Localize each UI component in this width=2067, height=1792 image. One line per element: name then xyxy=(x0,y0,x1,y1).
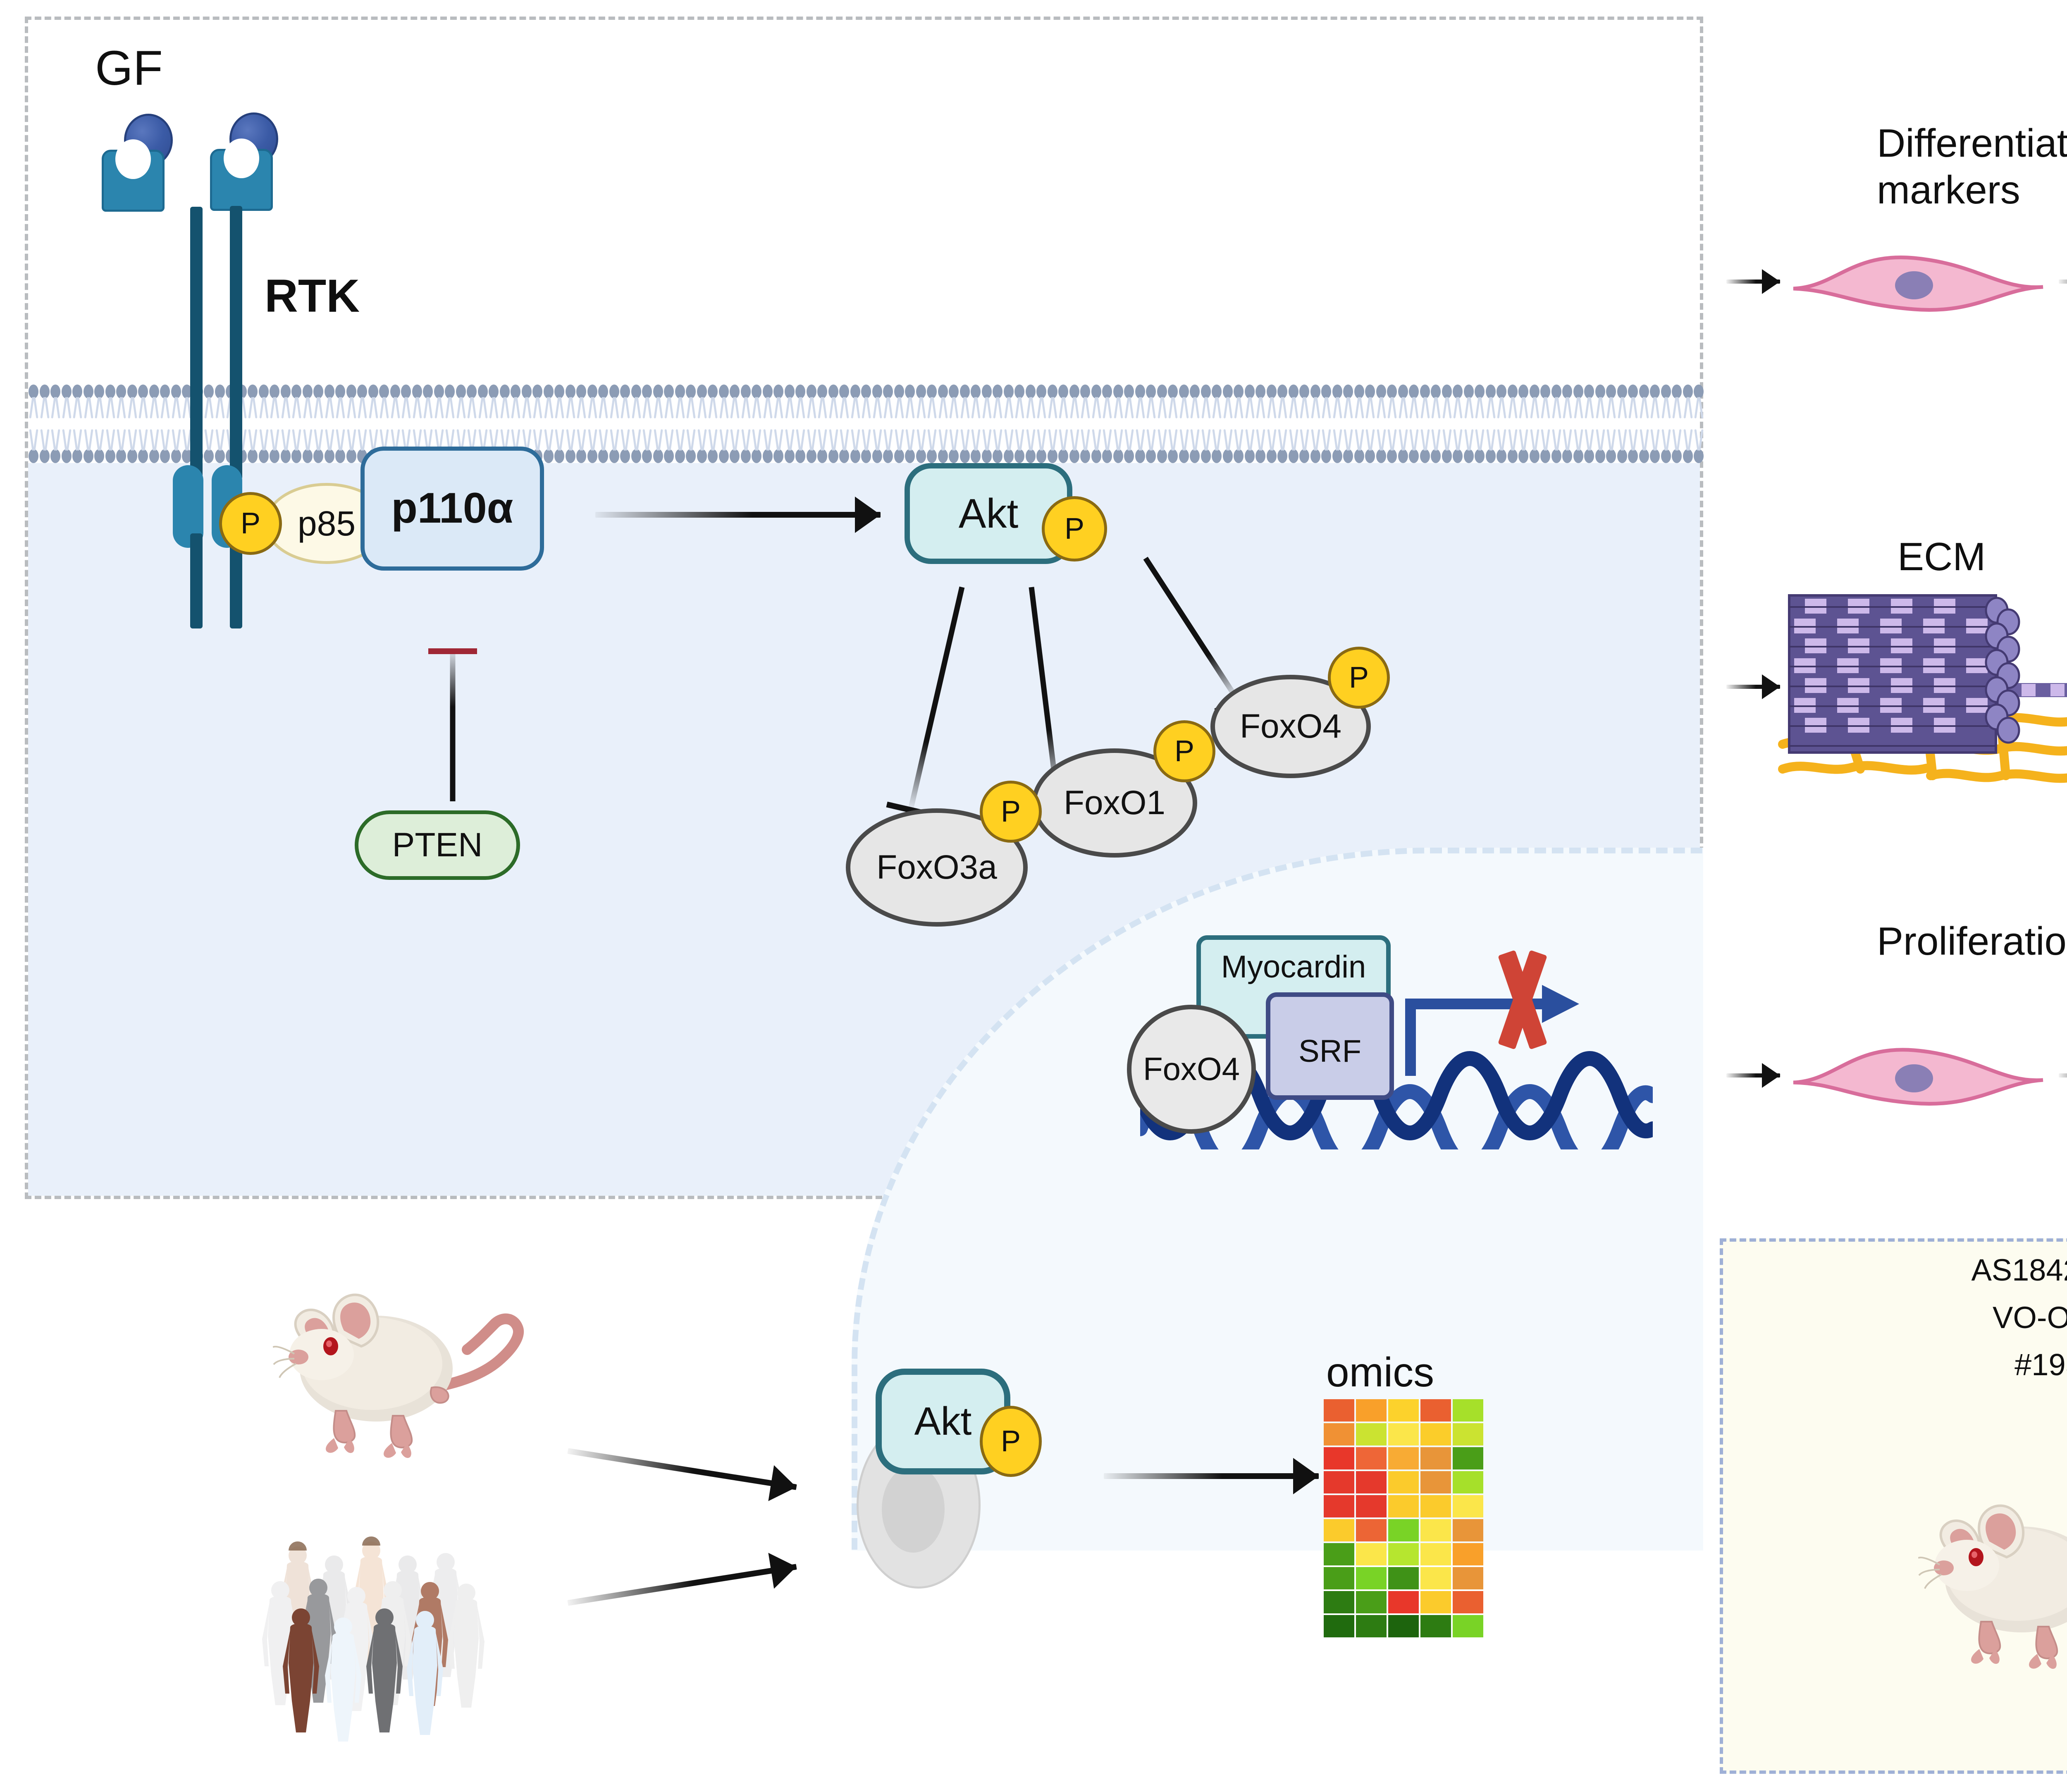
phospholipid-icon xyxy=(762,385,773,408)
phospho-group-icon: P xyxy=(1042,496,1107,561)
phospholipid-icon xyxy=(817,440,828,463)
phospholipid-icon xyxy=(1146,385,1157,408)
phospholipid-icon xyxy=(94,385,105,408)
phospholipid-icon xyxy=(1047,385,1058,408)
phospholipid-icon xyxy=(1069,440,1080,463)
heatmap-cell xyxy=(1420,1423,1451,1446)
phospholipid-icon xyxy=(324,385,335,408)
phospholipid-icon xyxy=(850,385,861,408)
phospholipid-icon xyxy=(1573,385,1584,408)
phospholipid-icon xyxy=(938,385,949,408)
phospholipid-icon xyxy=(412,385,423,408)
phospholipid-icon xyxy=(916,385,927,408)
phospholipid-icon xyxy=(707,440,718,463)
phospholipid-icon xyxy=(1201,385,1212,408)
p110alpha-subunit: p110α xyxy=(360,447,544,571)
phospholipid-icon xyxy=(1036,385,1047,408)
phospholipid-icon xyxy=(697,385,708,408)
phospholipid-icon xyxy=(1562,385,1573,408)
phospholipid-icon xyxy=(138,385,149,408)
phospholipid-icon xyxy=(61,440,72,463)
red-x-icon xyxy=(1483,950,1562,1049)
phospholipid-icon xyxy=(784,440,795,463)
heatmap-cell xyxy=(1356,1495,1387,1517)
heatmap-cell xyxy=(1420,1399,1451,1422)
pten-protein: PTEN xyxy=(355,810,520,880)
phospholipid-icon xyxy=(1310,385,1321,408)
phospholipid-icon xyxy=(1376,385,1387,408)
heatmap-cell xyxy=(1356,1399,1387,1422)
phospholipid-icon xyxy=(565,440,576,463)
phospholipid-icon xyxy=(543,440,554,463)
phospholipid-icon xyxy=(1420,385,1431,408)
phospholipid-icon xyxy=(1102,385,1113,408)
phospholipid-icon xyxy=(1496,440,1507,463)
omics-label: omics xyxy=(1326,1348,1434,1397)
heatmap-cell xyxy=(1388,1399,1419,1422)
phospholipid-icon xyxy=(1211,440,1222,463)
heatmap-cell xyxy=(1388,1447,1419,1469)
phospholipid-icon xyxy=(1661,440,1672,463)
phospholipid-icon xyxy=(992,385,1003,408)
phospholipid-icon xyxy=(116,440,127,463)
phospholipid-icon xyxy=(1474,440,1485,463)
phospholipid-icon xyxy=(1244,385,1255,408)
phospholipid-icon xyxy=(631,440,642,463)
phospholipid-icon xyxy=(1201,440,1212,463)
arrow-p110a-to-akt xyxy=(595,496,881,533)
phospholipid-icon xyxy=(981,440,993,463)
phospholipid-icon xyxy=(905,385,916,408)
phospholipid-icon xyxy=(587,440,598,463)
heatmap-cell xyxy=(1356,1615,1387,1637)
growth-factor-label: GF xyxy=(95,40,163,97)
phospholipid-icon xyxy=(379,385,390,408)
heatmap-cell xyxy=(1356,1519,1387,1541)
phospholipid-icon xyxy=(883,385,894,408)
phospholipid-icon xyxy=(39,440,50,463)
phospho-group-icon: P xyxy=(980,1406,1042,1477)
phospholipid-icon xyxy=(335,385,346,408)
heatmap-cell xyxy=(1324,1567,1354,1589)
phospholipid-icon xyxy=(1376,440,1387,463)
phospholipid-icon xyxy=(653,385,664,408)
phospholipid-icon xyxy=(313,385,324,408)
phospholipid-icon xyxy=(1408,385,1420,408)
heatmap-cell xyxy=(1420,1567,1451,1589)
phospholipid-icon xyxy=(1102,440,1113,463)
heatmap-cell xyxy=(1453,1495,1483,1517)
heatmap-cell xyxy=(1420,1543,1451,1565)
phospholipid-icon xyxy=(1014,440,1025,463)
phospholipid-icon xyxy=(773,385,784,408)
vascular-smooth-muscle-cell-icon xyxy=(1790,1038,2046,1112)
phospholipid-icon xyxy=(1146,440,1157,463)
proliferation-label: Proliferation xyxy=(1877,918,2067,965)
heatmap-cell xyxy=(1388,1543,1419,1565)
phospholipid-icon xyxy=(269,385,280,408)
phospholipid-icon xyxy=(1299,385,1310,408)
phospholipid-icon xyxy=(521,385,532,408)
phospholipid-icon xyxy=(1288,385,1299,408)
phospholipid-icon xyxy=(1584,385,1595,408)
heatmap-cell xyxy=(1324,1519,1354,1541)
figure-canvas: GF RTK P p85 p110α PTEN Akt P F xyxy=(0,0,2067,1792)
phospholipid-icon xyxy=(1671,440,1683,463)
phospholipid-icon xyxy=(620,385,631,408)
phospholipid-icon xyxy=(324,440,335,463)
phospholipid-icon xyxy=(1683,440,1694,463)
phospholipid-icon xyxy=(1671,385,1683,408)
phospholipid-icon xyxy=(642,440,653,463)
heatmap-cell xyxy=(1388,1615,1419,1637)
phospholipid-icon xyxy=(171,440,182,463)
phospholipid-icon xyxy=(1398,440,1409,463)
heatmap-cell xyxy=(1453,1567,1483,1589)
phospholipid-icon xyxy=(675,440,686,463)
phospholipid-icon xyxy=(1683,385,1694,408)
heatmap-cell xyxy=(1324,1423,1354,1446)
phospholipid-icon xyxy=(313,440,324,463)
heatmap-cell xyxy=(1356,1567,1387,1589)
arrow-to-modulated-cell xyxy=(2059,269,2067,294)
collagen-bundle-icon xyxy=(1782,587,2030,761)
plasma-membrane xyxy=(28,385,1700,464)
arrow-into-proliferation xyxy=(1726,1063,1780,1088)
phospholipid-icon xyxy=(1277,440,1288,463)
heatmap-cell xyxy=(1324,1399,1354,1422)
phospholipid-icon xyxy=(1179,385,1190,408)
phospholipid-icon xyxy=(1408,440,1420,463)
phospholipid-icon xyxy=(39,385,50,408)
heatmap-cell xyxy=(1356,1543,1387,1565)
rtk-stalk xyxy=(230,206,242,480)
phospholipid-icon xyxy=(1211,385,1222,408)
phospholipid-icon xyxy=(1091,385,1102,408)
phospholipid-icon xyxy=(1639,385,1650,408)
phospholipid-icon xyxy=(1463,440,1475,463)
phospholipid-icon xyxy=(817,385,828,408)
phospholipid-icon xyxy=(1343,440,1354,463)
phospholipid-icon xyxy=(1562,440,1573,463)
phospholipid-icon xyxy=(620,440,631,463)
phospholipid-icon xyxy=(675,385,686,408)
vascular-smooth-muscle-cell-icon xyxy=(1790,247,2046,318)
phospholipid-icon xyxy=(477,385,489,408)
phospholipid-icon xyxy=(127,385,138,408)
phospholipid-icon xyxy=(1551,385,1562,408)
phospholipid-icon xyxy=(762,440,773,463)
phospholipid-icon xyxy=(1003,385,1014,408)
phospholipid-icon xyxy=(1222,440,1234,463)
phospholipid-icon xyxy=(466,385,477,408)
phospholipid-icon xyxy=(1595,385,1606,408)
phospholipid-icon xyxy=(773,440,784,463)
mouse-with-syringe-icon xyxy=(1918,1472,2067,1687)
phospholipid-icon xyxy=(1113,385,1124,408)
phospholipid-icon xyxy=(50,385,61,408)
lipid-row-inner xyxy=(28,440,1700,464)
heatmap-cell xyxy=(1453,1615,1483,1637)
phospholipid-icon xyxy=(149,440,160,463)
phospholipid-icon xyxy=(1365,385,1376,408)
phospholipid-icon xyxy=(105,385,116,408)
phospholipid-icon xyxy=(1430,440,1442,463)
phospho-group-icon: P xyxy=(1328,647,1390,709)
heatmap-cell xyxy=(1453,1399,1483,1422)
arrow-into-ecm xyxy=(1726,674,1780,700)
phospholipid-icon xyxy=(401,385,412,408)
phospholipid-icon xyxy=(1167,440,1179,463)
phospholipid-icon xyxy=(105,440,116,463)
phospholipid-icon xyxy=(861,440,872,463)
heatmap-cell xyxy=(1420,1471,1451,1493)
arrow-humans-to-akt xyxy=(564,1544,800,1625)
phospholipid-icon xyxy=(554,385,565,408)
phospholipid-icon xyxy=(1518,385,1529,408)
phospholipid-icon xyxy=(61,385,72,408)
heatmap-cell xyxy=(1356,1591,1387,1613)
phospholipid-icon xyxy=(1036,440,1047,463)
phospholipid-icon xyxy=(1124,440,1135,463)
phospholipid-icon xyxy=(960,440,971,463)
heatmap-cell xyxy=(1324,1447,1354,1469)
phospholipid-icon xyxy=(1507,440,1518,463)
phospholipid-icon xyxy=(916,440,927,463)
heatmap-cell xyxy=(1324,1471,1354,1493)
phospholipid-icon xyxy=(1167,385,1179,408)
rtk-stalk xyxy=(190,207,203,480)
phospholipid-icon xyxy=(992,440,1003,463)
phospholipid-icon xyxy=(160,385,171,408)
phospholipid-icon xyxy=(970,440,981,463)
phospholipid-icon xyxy=(1014,385,1025,408)
heatmap-cell xyxy=(1324,1543,1354,1565)
rtk-receptor-icon xyxy=(210,149,273,211)
phospholipid-icon xyxy=(1343,385,1354,408)
phospholipid-icon xyxy=(1661,385,1672,408)
phospholipid-icon xyxy=(806,385,817,408)
phospholipid-icon xyxy=(938,440,949,463)
phospholipid-icon xyxy=(1485,385,1497,408)
phospholipid-icon xyxy=(1332,440,1343,463)
phospho-group-icon: P xyxy=(980,781,1042,843)
phospholipid-icon xyxy=(729,385,740,408)
phospholipid-icon xyxy=(28,385,39,408)
human-cohort-icon xyxy=(260,1530,550,1786)
phospholipid-icon xyxy=(1025,440,1036,463)
phospholipid-icon xyxy=(1584,440,1595,463)
arrow-akt-to-omics xyxy=(1104,1455,1319,1497)
phospholipid-icon xyxy=(850,440,861,463)
phospholipid-icon xyxy=(346,385,357,408)
phospholipid-icon xyxy=(1540,385,1551,408)
phospholipid-icon xyxy=(1649,385,1661,408)
phospholipid-icon xyxy=(83,440,94,463)
phospholipid-icon xyxy=(1135,385,1146,408)
phospholipid-icon xyxy=(510,385,521,408)
phospholipid-icon xyxy=(1233,440,1244,463)
phospholipid-icon xyxy=(543,385,554,408)
phospholipid-icon xyxy=(685,440,697,463)
phospholipid-icon xyxy=(587,385,598,408)
phospholipid-icon xyxy=(127,440,138,463)
phospholipid-icon xyxy=(1332,385,1343,408)
heatmap-cell xyxy=(1324,1591,1354,1613)
phospholipid-icon xyxy=(981,385,993,408)
phospholipid-icon xyxy=(1420,440,1431,463)
phospholipid-icon xyxy=(948,385,960,408)
phospholipid-icon xyxy=(707,385,718,408)
phospholipid-icon xyxy=(960,385,971,408)
heatmap-cell xyxy=(1420,1495,1451,1517)
phospholipid-icon xyxy=(1649,440,1661,463)
phospholipid-icon xyxy=(598,385,609,408)
phospholipid-icon xyxy=(335,440,346,463)
phospholipid-icon xyxy=(422,385,434,408)
heatmap-cell xyxy=(1388,1471,1419,1493)
phospholipid-icon xyxy=(1233,385,1244,408)
rtk-receptor-icon xyxy=(102,150,165,212)
phospholipid-icon xyxy=(1113,440,1124,463)
phospholipid-icon xyxy=(247,440,258,463)
phospholipid-icon xyxy=(1058,440,1069,463)
phospholipid-icon xyxy=(1299,440,1310,463)
phospholipid-icon xyxy=(346,440,357,463)
heatmap-cell xyxy=(1388,1423,1419,1446)
phospholipid-icon xyxy=(631,385,642,408)
phospholipid-icon xyxy=(576,440,587,463)
heatmap-cell xyxy=(1388,1519,1419,1541)
phospholipid-icon xyxy=(203,440,215,463)
heatmap-cell xyxy=(1356,1447,1387,1469)
phospholipid-icon xyxy=(1442,440,1453,463)
phospholipid-icon xyxy=(872,440,883,463)
phospholipid-icon xyxy=(1628,440,1639,463)
phospholipid-icon xyxy=(1693,385,1704,408)
phospholipid-icon xyxy=(751,385,762,408)
phospholipid-icon xyxy=(1452,440,1463,463)
phospholipid-icon xyxy=(828,385,839,408)
phospholipid-icon xyxy=(1595,440,1606,463)
phospholipid-icon xyxy=(576,385,587,408)
phospholipid-icon xyxy=(390,385,401,408)
phospholipid-icon xyxy=(1080,440,1091,463)
phospholipid-icon xyxy=(149,385,160,408)
phospholipid-icon xyxy=(83,385,94,408)
phospholipid-icon xyxy=(926,440,938,463)
phospholipid-icon xyxy=(247,385,258,408)
phospholipid-icon xyxy=(302,440,313,463)
phospholipid-icon xyxy=(160,440,171,463)
phospholipid-icon xyxy=(280,440,291,463)
phospholipid-icon xyxy=(1321,440,1332,463)
phospholipid-icon xyxy=(357,385,368,408)
phospholipid-icon xyxy=(685,385,697,408)
phospholipid-icon xyxy=(72,385,83,408)
heatmap-cell xyxy=(1453,1447,1483,1469)
phospholipid-icon xyxy=(1387,440,1398,463)
phospholipid-icon xyxy=(280,385,291,408)
rtk-label: RTK xyxy=(265,269,360,323)
phospholipid-icon xyxy=(291,385,302,408)
phospholipid-icon xyxy=(554,440,565,463)
phospholipid-icon xyxy=(1551,440,1562,463)
phospholipid-icon xyxy=(905,440,916,463)
phospholipid-icon xyxy=(1179,440,1190,463)
phospholipid-icon xyxy=(1463,385,1475,408)
phospholipid-icon xyxy=(861,385,872,408)
phospholipid-icon xyxy=(50,440,61,463)
phospholipid-icon xyxy=(532,385,543,408)
phospholipid-icon xyxy=(1606,440,1617,463)
heatmap-cell xyxy=(1453,1519,1483,1541)
rtk-stalk xyxy=(190,533,203,628)
heatmap-cell xyxy=(1356,1471,1387,1493)
phospholipid-icon xyxy=(740,440,752,463)
phospholipid-icon xyxy=(215,440,226,463)
phospholipid-icon xyxy=(1387,385,1398,408)
phospholipid-icon xyxy=(1189,440,1201,463)
phospholipid-icon xyxy=(828,440,839,463)
phospholipid-icon xyxy=(1540,440,1551,463)
phospholipid-icon xyxy=(1135,440,1146,463)
phospholipid-icon xyxy=(1157,385,1168,408)
phospholipid-icon xyxy=(1321,385,1332,408)
phospholipid-icon xyxy=(1474,385,1485,408)
phospholipid-icon xyxy=(1639,440,1650,463)
phospholipid-icon xyxy=(291,440,302,463)
phospholipid-icon xyxy=(1255,385,1266,408)
phospholipid-icon xyxy=(1606,385,1617,408)
srf-protein: SRF xyxy=(1266,992,1394,1100)
drug-list-label: AS1842856 - FOXO1 inhibitor VO-OHpic - P… xyxy=(1852,1247,2067,1389)
phospholipid-icon xyxy=(795,385,806,408)
phospholipid-icon xyxy=(598,440,609,463)
phospho-group-icon: P xyxy=(1153,720,1215,782)
heatmap-cell xyxy=(1324,1615,1354,1637)
phospholipid-icon xyxy=(653,440,664,463)
phospholipid-icon xyxy=(1507,385,1518,408)
phospholipid-icon xyxy=(1354,440,1365,463)
phospholipid-icon xyxy=(1354,385,1365,408)
phospholipid-icon xyxy=(1047,440,1058,463)
heatmap-cell xyxy=(1388,1567,1419,1589)
phospholipid-icon xyxy=(1157,440,1168,463)
phospholipid-icon xyxy=(138,440,149,463)
pten-inhibition-arrow xyxy=(426,649,480,806)
phospholipid-icon xyxy=(499,385,511,408)
phospholipid-icon xyxy=(72,440,83,463)
phospholipid-icon xyxy=(94,440,105,463)
heatmap-cell xyxy=(1324,1495,1354,1517)
phospholipid-icon xyxy=(1398,385,1409,408)
phospholipid-icon xyxy=(565,385,576,408)
phospholipid-icon xyxy=(1529,440,1540,463)
heatmap-cell xyxy=(1420,1447,1451,1469)
phospholipid-icon xyxy=(1310,440,1321,463)
phospholipid-icon xyxy=(488,385,499,408)
phospholipid-icon xyxy=(171,385,182,408)
phospholipid-icon xyxy=(1255,440,1266,463)
phospholipid-icon xyxy=(970,385,981,408)
phospholipid-icon xyxy=(642,385,653,408)
phospholipid-icon xyxy=(1365,440,1376,463)
phospholipid-icon xyxy=(1628,385,1639,408)
heatmap-cell xyxy=(1388,1591,1419,1613)
phospholipid-icon xyxy=(258,385,270,408)
phospholipid-icon xyxy=(1266,440,1277,463)
